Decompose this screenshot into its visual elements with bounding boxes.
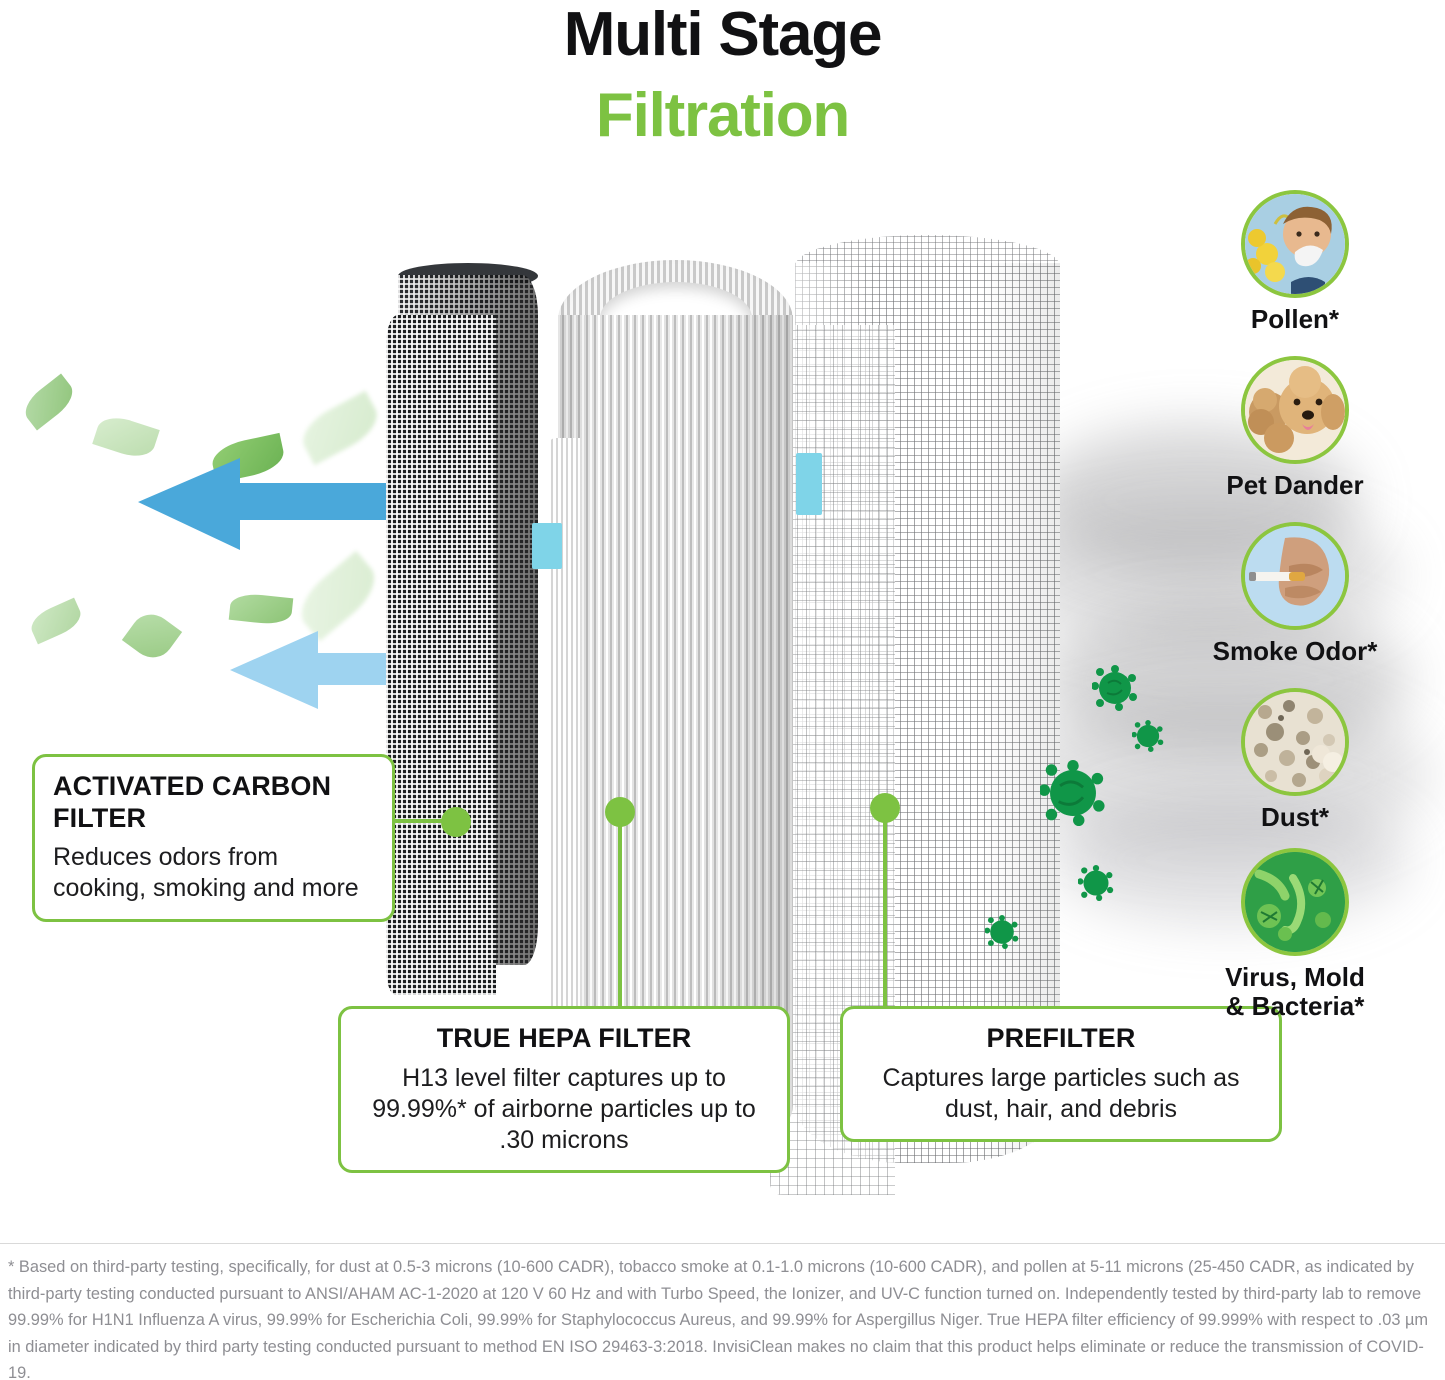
particle-item-smoke-odor[interactable]: Smoke Odor*	[1150, 522, 1440, 666]
leaf-icon	[27, 598, 86, 645]
footnote-divider	[0, 1243, 1445, 1244]
virus-particle-icon	[985, 915, 1019, 949]
particle-label: Pet Dander	[1150, 471, 1440, 500]
leaf-icon	[229, 592, 294, 626]
carbon-front-panel	[386, 315, 496, 995]
virus-particle-icon	[1092, 665, 1138, 711]
carbon-connector-line	[395, 819, 445, 823]
callout-prefilter[interactable]: PREFILTER Captures large particles such …	[840, 1006, 1282, 1142]
leaf-icon	[122, 606, 182, 666]
particle-label-line-2: & Bacteria*	[1226, 991, 1365, 1021]
poodle-dog-photo-icon	[1241, 356, 1349, 464]
dust-particles-macro-photo-icon	[1241, 688, 1349, 796]
particle-label-line-1: Virus, Mold	[1225, 962, 1365, 992]
particle-item-pollen[interactable]: Pollen*	[1150, 190, 1440, 334]
callout-heading: TRUE HEPA FILTER	[359, 1023, 769, 1055]
particle-label: Dust*	[1150, 803, 1440, 832]
hepa-connector-line	[618, 812, 622, 1008]
page-title: Multi Stage Filtration	[0, 4, 1445, 151]
bacteria-microscope-photo-icon	[1241, 848, 1349, 956]
prefilter-connector-line	[883, 808, 887, 1008]
callout-body: Reduces odors from cooking, smoking and …	[53, 842, 374, 905]
particle-label: Smoke Odor*	[1150, 637, 1440, 666]
callout-body: H13 level filter captures up to 99.99%* …	[359, 1063, 769, 1157]
hand-holding-cigarette-photo-icon	[1241, 522, 1349, 630]
particle-label: Pollen*	[1150, 305, 1440, 334]
particle-item-dust[interactable]: Dust*	[1150, 688, 1440, 832]
infographic-root: Multi Stage Filtration	[0, 0, 1445, 1380]
callout-heading: ACTIVATED CARBON FILTER	[53, 771, 374, 834]
footnote-text: * Based on third-party testing, specific…	[8, 1254, 1436, 1380]
filter-tab-right	[796, 453, 822, 515]
particle-label: Virus, Mold & Bacteria*	[1150, 963, 1440, 1021]
particle-item-virus-mold-bacteria[interactable]: Virus, Mold & Bacteria*	[1150, 848, 1440, 1021]
leaf-icon	[18, 374, 79, 431]
title-line-1: Multi Stage	[0, 4, 1445, 66]
girl-sneezing-pollen-photo-icon	[1241, 190, 1349, 298]
virus-particle-icon	[1040, 760, 1106, 826]
callout-body: Captures large particles such as dust, h…	[861, 1063, 1261, 1126]
title-line-2: Filtration	[0, 80, 1445, 151]
virus-particle-icon	[1078, 865, 1114, 901]
callout-true-hepa-filter[interactable]: TRUE HEPA FILTER H13 level filter captur…	[338, 1006, 790, 1173]
filter-tab-left	[532, 523, 562, 569]
carbon-connector-dot	[441, 807, 471, 837]
callout-heading: PREFILTER	[861, 1023, 1261, 1055]
particle-item-pet-dander[interactable]: Pet Dander	[1150, 356, 1440, 500]
callout-activated-carbon-filter[interactable]: ACTIVATED CARBON FILTER Reduces odors fr…	[32, 754, 395, 922]
